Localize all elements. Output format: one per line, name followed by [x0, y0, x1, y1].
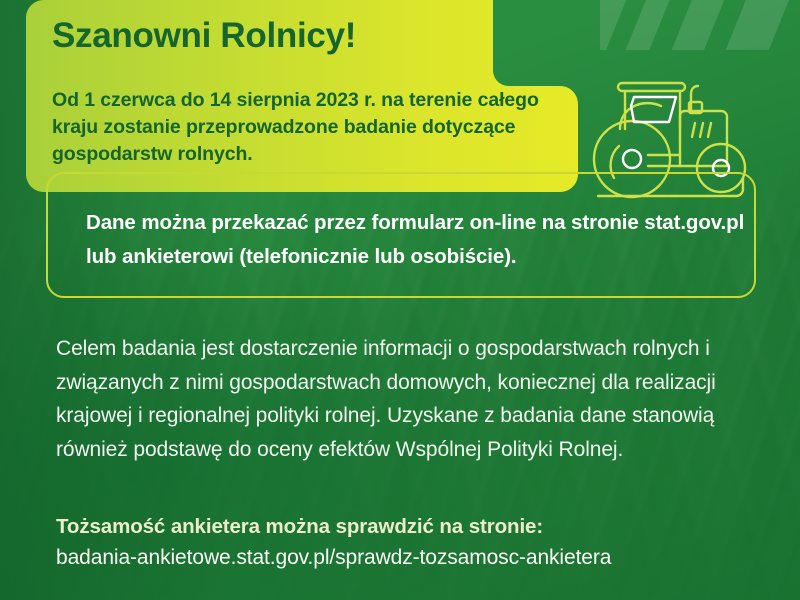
- page-title: Szanowni Rolnicy!: [52, 16, 356, 56]
- stripe-4: [713, 0, 795, 50]
- headline-text-group: Szanowni Rolnicy! Od 1 czerwca do 14 sie…: [26, 0, 578, 192]
- headline-subtitle: Od 1 czerwca do 14 sierpnia 2023 r. na t…: [52, 87, 582, 168]
- corner-stripes-decoration: [600, 0, 800, 50]
- callout-text: Dane można przekazać przez formularz on-…: [86, 206, 746, 274]
- poster-canvas: Szanowni Rolnicy! Od 1 czerwca do 14 sie…: [0, 0, 800, 600]
- headline-panel: Szanowni Rolnicy! Od 1 czerwca do 14 sie…: [26, 0, 578, 192]
- verify-block: Tożsamość ankietera można sprawdzić na s…: [56, 512, 776, 573]
- body-paragraph: Celem badania jest dostarczenie informac…: [56, 332, 766, 466]
- verify-label: Tożsamość ankietera można sprawdzić na s…: [56, 512, 776, 542]
- verify-url[interactable]: badania-ankietowe.stat.gov.pl/sprawdz-to…: [56, 542, 776, 573]
- stripe-3: [659, 0, 732, 50]
